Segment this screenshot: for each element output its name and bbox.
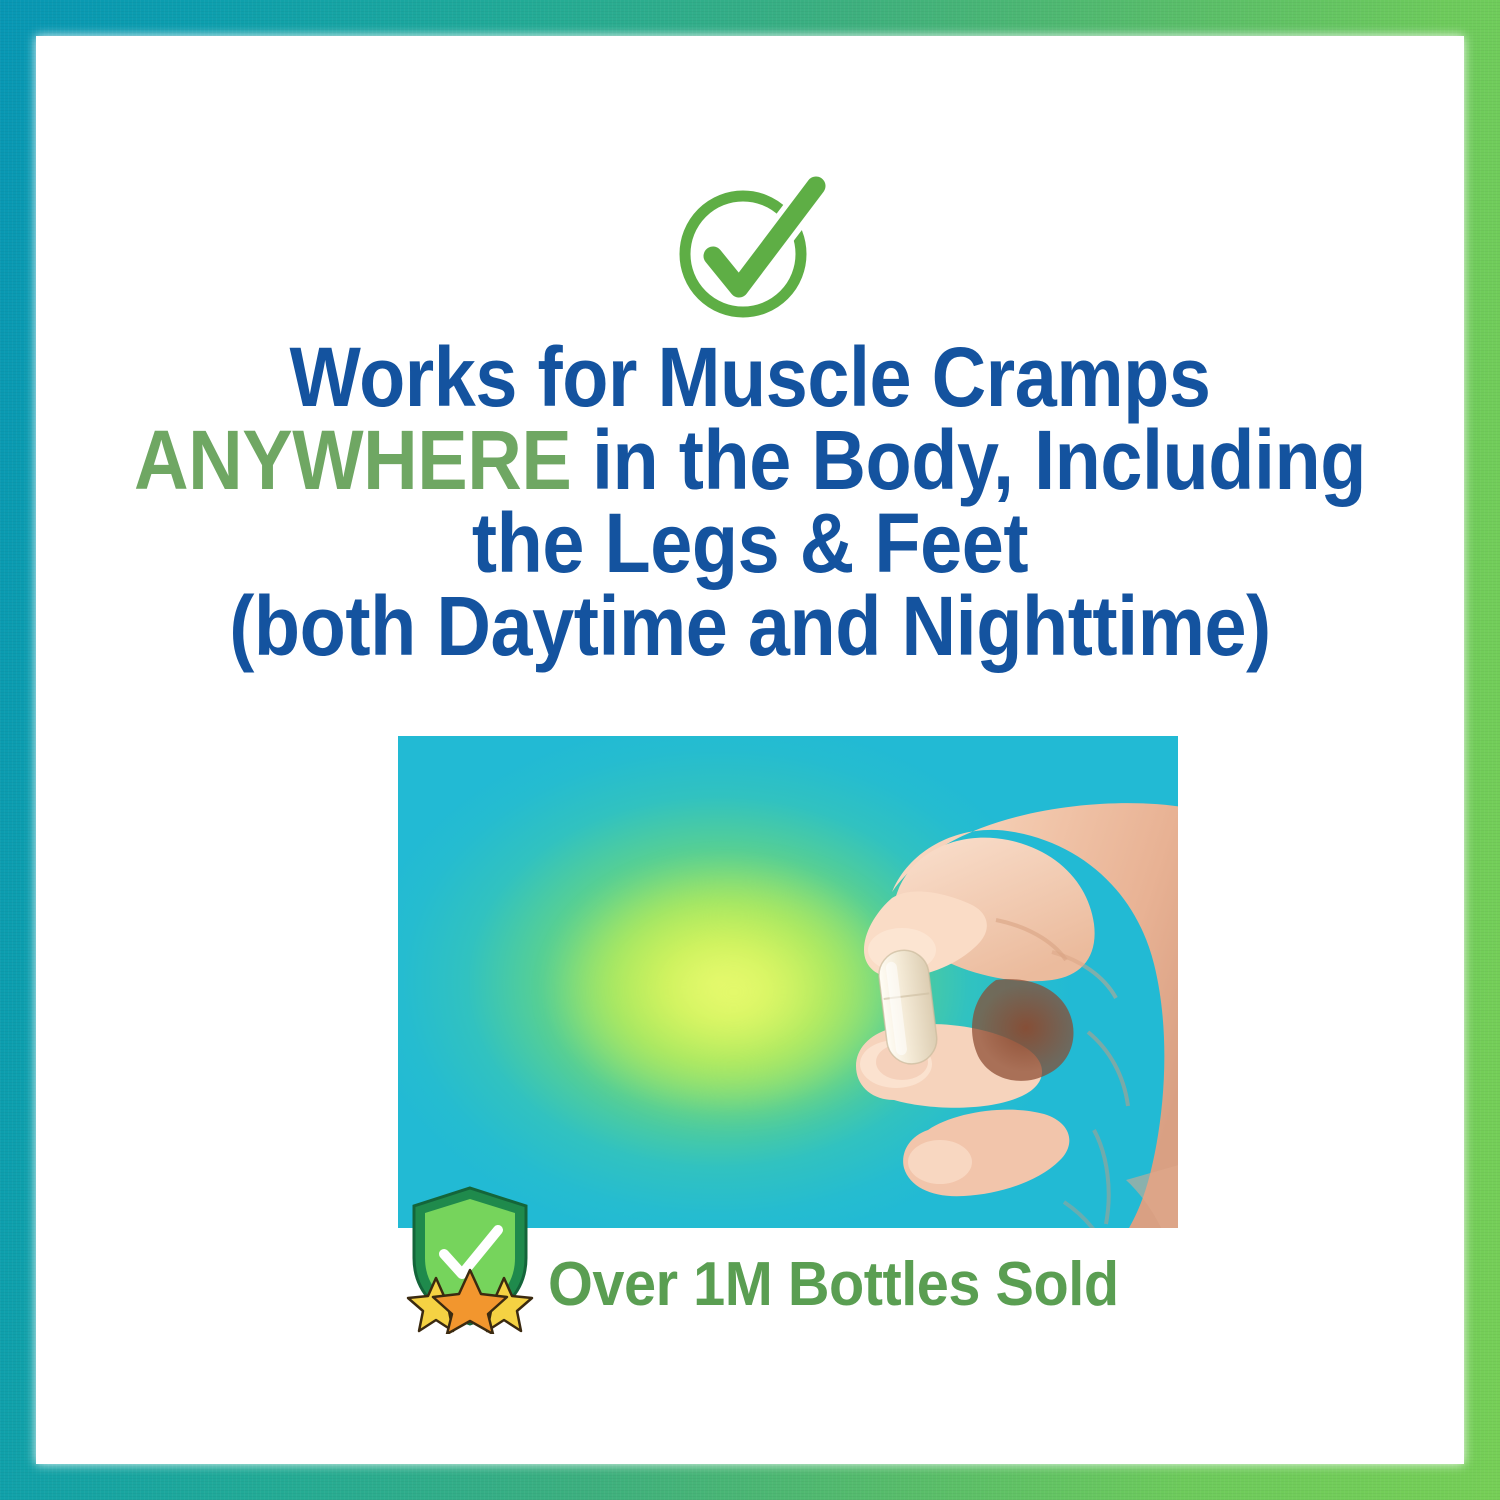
- headline-line-4: (both Daytime and Nighttime): [107, 585, 1392, 668]
- headline-line-2-rest: in the Body, Including: [571, 413, 1366, 507]
- headline-line-3: the Legs & Feet: [107, 502, 1392, 585]
- bottles-sold-text: Over 1M Bottles Sold: [548, 1254, 1119, 1316]
- shield-badge: [404, 1182, 536, 1334]
- check-circle-icon: [655, 176, 845, 326]
- white-content-panel: Works for Muscle Cramps ANYWHERE in the …: [36, 36, 1464, 1464]
- product-photo: [398, 736, 1178, 1228]
- marketing-card: Works for Muscle Cramps ANYWHERE in the …: [0, 0, 1500, 1500]
- headline-anywhere-highlight: ANYWHERE: [134, 413, 571, 507]
- headline-line-1: Works for Muscle Cramps: [107, 336, 1392, 419]
- page-title: Works for Muscle Cramps ANYWHERE in the …: [107, 336, 1392, 669]
- hand-holding-capsule-image: [696, 800, 1178, 1228]
- headline-line-2: ANYWHERE in the Body, Including: [107, 419, 1392, 502]
